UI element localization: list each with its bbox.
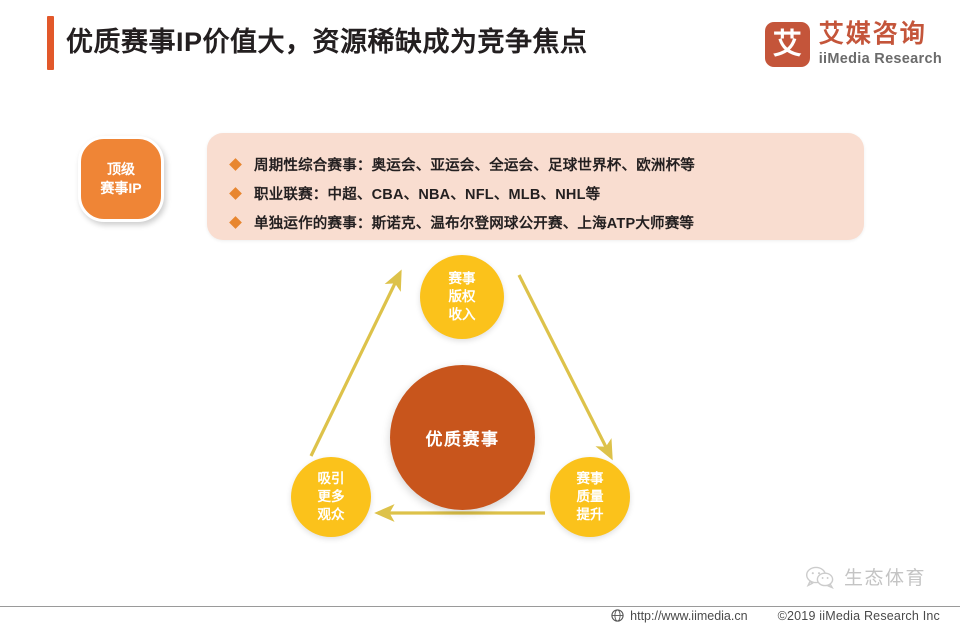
- node-event-quality-improvement: 赛事 质量 提升: [550, 457, 630, 537]
- node-broadcast-rights-revenue: 赛事 版权 收入: [420, 255, 504, 339]
- node-line: 赛事: [577, 470, 604, 488]
- node-line: 更多: [318, 488, 345, 506]
- wechat-icon: [805, 565, 835, 589]
- footer-website[interactable]: http://www.iimedia.cn: [611, 609, 747, 623]
- title-accent-bar: [47, 16, 54, 70]
- diamond-bullet-icon: [229, 216, 242, 229]
- brand-logo: 艾 艾媒咨询 iiMedia Research: [765, 22, 942, 67]
- iimedia-logo-icon: 艾: [765, 22, 810, 67]
- node-line: 赛事: [449, 270, 476, 288]
- top-ip-badge: 顶级 赛事IP: [78, 136, 164, 222]
- list-item-label: 职业联赛：中超、CBA、NBA、NFL、MLB、NHL等: [254, 183, 600, 204]
- list-item: 职业联赛：中超、CBA、NBA、NFL、MLB、NHL等: [231, 183, 600, 204]
- diamond-bullet-icon: [229, 187, 242, 200]
- badge-line-1: 顶级: [107, 160, 135, 179]
- slide-canvas: 优质赛事IP价值大，资源稀缺成为竞争焦点 艾 艾媒咨询 iiMedia Rese…: [0, 0, 960, 624]
- virtuous-cycle-diagram: 赛事 版权 收入 优质赛事 吸引 更多 观众 赛事 质量 提升: [0, 245, 960, 565]
- ip-categories-panel: 周期性综合赛事：奥运会、亚运会、全运会、足球世界杯、欧洲杯等 职业联赛：中超、C…: [207, 133, 864, 240]
- node-line: 提升: [577, 506, 604, 524]
- node-line: 吸引: [318, 470, 345, 488]
- list-item-label: 周期性综合赛事：奥运会、亚运会、全运会、足球世界杯、欧洲杯等: [254, 154, 695, 175]
- logo-name-cn: 艾媒咨询: [819, 22, 942, 47]
- node-quality-events: 优质赛事: [390, 365, 535, 510]
- list-item-label: 单独运作的赛事：斯诺克、温布尔登网球公开赛、上海ATP大师赛等: [254, 212, 694, 233]
- watermark-label: 生态体育: [844, 563, 926, 590]
- node-line: 优质赛事: [426, 425, 500, 450]
- diamond-bullet-icon: [229, 158, 242, 171]
- badge-line-2: 赛事IP: [100, 179, 141, 198]
- logo-name-en: iiMedia Research: [819, 52, 942, 67]
- arrow-attract-to-rights: [311, 273, 400, 456]
- footer-website-label: http://www.iimedia.cn: [630, 609, 747, 623]
- logo-text: 艾媒咨询 iiMedia Research: [819, 22, 942, 67]
- wechat-watermark: 生态体育: [805, 563, 926, 590]
- list-item: 单独运作的赛事：斯诺克、温布尔登网球公开赛、上海ATP大师赛等: [231, 212, 694, 233]
- node-line: 观众: [318, 506, 345, 524]
- node-line: 版权: [449, 288, 476, 306]
- slide-footer: http://www.iimedia.cn ©2019 iiMedia Rese…: [0, 607, 960, 624]
- logo-mark-glyph: 艾: [765, 30, 810, 59]
- slide-header: 优质赛事IP价值大，资源稀缺成为竞争焦点 艾 艾媒咨询 iiMedia Rese…: [0, 0, 960, 92]
- globe-icon: [611, 609, 624, 622]
- page-title: 优质赛事IP价值大，资源稀缺成为竞争焦点: [66, 22, 588, 62]
- node-line: 收入: [449, 306, 476, 324]
- node-attract-more-viewers: 吸引 更多 观众: [291, 457, 371, 537]
- list-item: 周期性综合赛事：奥运会、亚运会、全运会、足球世界杯、欧洲杯等: [231, 154, 695, 175]
- node-line: 质量: [577, 488, 604, 506]
- footer-copyright: ©2019 iiMedia Research Inc: [778, 609, 944, 623]
